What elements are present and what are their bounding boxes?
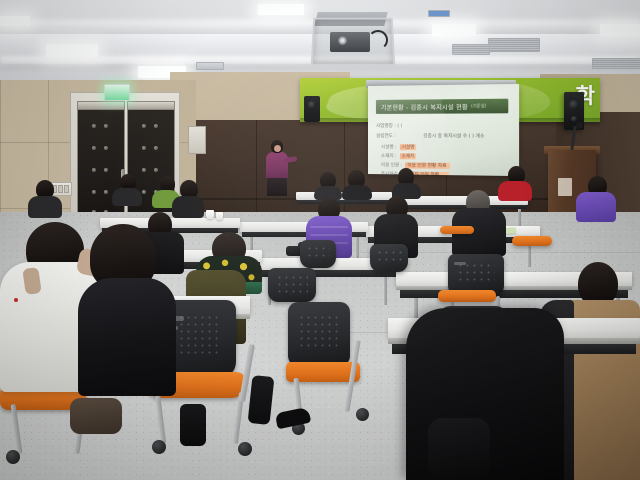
door-leaf-right[interactable] — [127, 109, 175, 227]
projection-screen: 기본현황 - 김종시 복지시설 현황 (기준일) 사업명칭 : ( ) 설립연도… — [368, 84, 519, 176]
chair-caster — [152, 440, 166, 454]
ceiling-marker — [428, 10, 450, 17]
table-leg — [356, 237, 359, 259]
ceiling-light-panel — [258, 4, 304, 15]
microphone-icon — [576, 122, 583, 129]
projector-body — [330, 32, 370, 52]
light-switch-key[interactable] — [64, 185, 69, 193]
ceiling-light-panel — [432, 24, 476, 36]
paper-cup — [216, 212, 223, 220]
audience-torso-red-jacket — [498, 181, 532, 201]
table-leg — [528, 243, 531, 267]
exit-sign-icon — [104, 84, 130, 101]
presenter-torso — [266, 152, 288, 180]
chair-back[interactable] — [300, 240, 336, 268]
audience-torso — [342, 185, 372, 200]
wall-control-box[interactable] — [188, 126, 206, 154]
audience-torso — [28, 196, 62, 218]
table-leg — [518, 209, 521, 227]
table-leg — [384, 277, 387, 305]
ceiling-light-panel — [0, 16, 30, 26]
wall-speaker-icon — [304, 96, 320, 122]
lapel-pin — [14, 298, 18, 302]
audience-torso-violet-jacket — [576, 192, 616, 222]
chair-back[interactable] — [268, 268, 316, 302]
chair-seat[interactable] — [512, 236, 552, 246]
audience-leg — [180, 404, 206, 446]
hvac-vent — [592, 58, 640, 69]
ceiling-light-panel — [46, 44, 98, 57]
hvac-vent — [488, 38, 540, 52]
audience-torso — [172, 196, 204, 218]
light-switch-key[interactable] — [58, 185, 63, 193]
chair-caster — [238, 442, 252, 456]
slide-title-note: (기준일) — [471, 103, 486, 109]
chair-seat[interactable] — [440, 226, 474, 234]
door-leaf-left[interactable] — [77, 109, 125, 227]
presenter-face — [274, 145, 281, 152]
coat-fold — [428, 418, 490, 480]
seminar-room-photo: 학 — [0, 0, 640, 480]
presenter — [262, 140, 292, 196]
chair-caster — [6, 450, 20, 464]
projector-cable — [368, 30, 388, 50]
ceiling-light-panel — [600, 24, 640, 36]
presenter-lower-body — [267, 178, 287, 196]
ceiling-speaker-grille — [196, 62, 224, 70]
podium-emblem — [558, 178, 572, 196]
projector-lens — [338, 36, 347, 45]
chair-seat[interactable] — [438, 290, 496, 302]
chair-back[interactable] — [288, 302, 350, 366]
audience-torso — [112, 188, 142, 206]
audience-black-top — [78, 278, 176, 396]
screen-glare — [368, 84, 465, 176]
paper-cup — [206, 210, 214, 219]
bag-under-chair — [70, 398, 122, 434]
ceiling-projector-cage — [312, 16, 390, 62]
table-apron — [298, 200, 390, 204]
audience-neck — [22, 267, 41, 295]
chair-back[interactable] — [370, 244, 408, 272]
hvac-vent — [452, 44, 490, 55]
chair-caster — [356, 408, 369, 421]
